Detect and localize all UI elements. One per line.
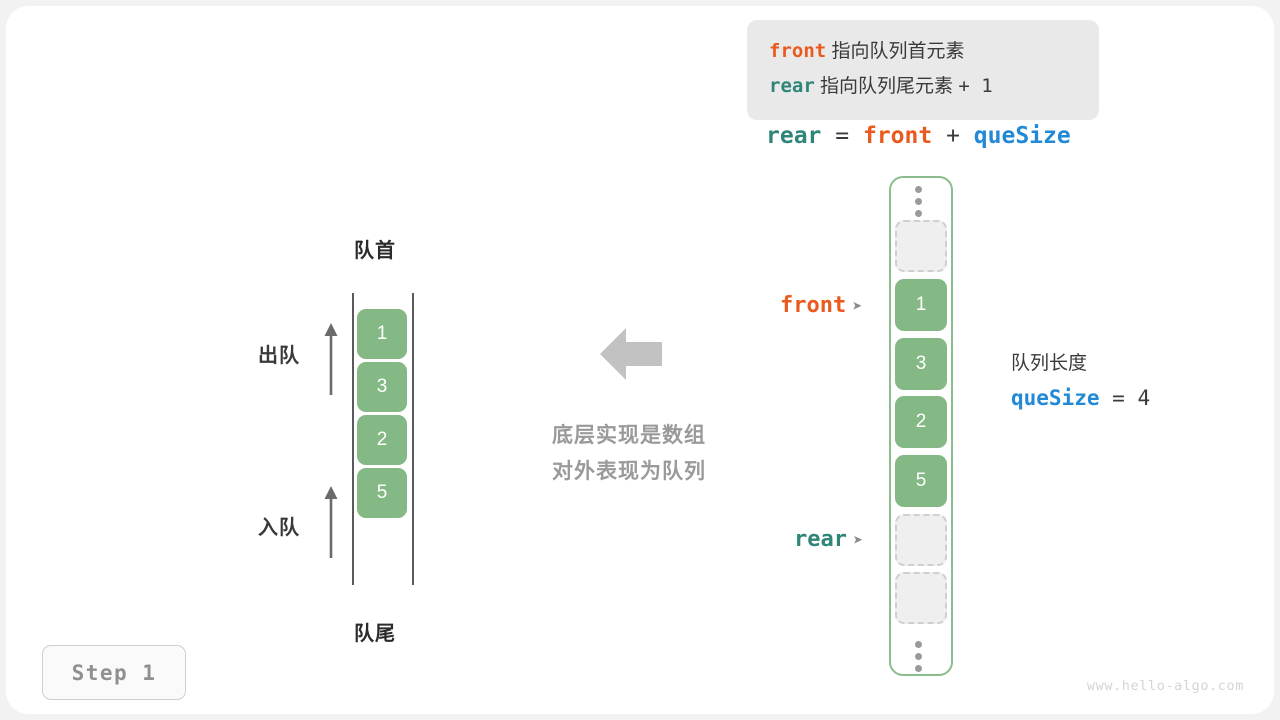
array-cell-filled: 5 bbox=[895, 455, 947, 507]
queue-size-expression: queSize = 4 bbox=[1011, 381, 1150, 415]
pointer-definition-note: front 指向队列首元素 rear 指向队列尾元素 + 1 bbox=[747, 20, 1099, 120]
formula-quesize: queSize bbox=[974, 123, 1071, 149]
formula-plus: + bbox=[946, 123, 960, 149]
queue-item: 1 bbox=[357, 309, 407, 359]
dequeue-label: 出队 bbox=[258, 339, 300, 368]
queue-head-label: 队首 bbox=[354, 234, 396, 263]
formula-equals: = bbox=[835, 123, 849, 149]
note-line-front: front 指向队列首元素 bbox=[769, 34, 1099, 69]
queue-item: 3 bbox=[357, 362, 407, 412]
queue-item: 2 bbox=[357, 415, 407, 465]
enqueue-arrow-icon bbox=[323, 486, 339, 558]
queue-size-title: 队列长度 bbox=[1011, 347, 1150, 381]
transform-caption: 底层实现是数组 对外表现为队列 bbox=[534, 418, 724, 490]
ellipsis-dot bbox=[915, 641, 922, 648]
diagram-canvas: front 指向队列首元素 rear 指向队列尾元素 + 1 rear = fr… bbox=[6, 6, 1274, 714]
front-description: 指向队列首元素 bbox=[831, 41, 964, 62]
left-arrow-icon bbox=[600, 326, 662, 382]
rear-pointer-marker-icon: ➤ bbox=[853, 531, 863, 551]
quesize-equals: = bbox=[1112, 386, 1125, 410]
vertical-ellipsis-icon-bottom bbox=[915, 641, 923, 677]
quesize-value: 4 bbox=[1137, 386, 1150, 410]
queue-rail-left bbox=[352, 293, 354, 585]
rear-keyword: rear bbox=[769, 75, 815, 97]
front-pointer: front➤ bbox=[780, 293, 862, 318]
formula-front: front bbox=[863, 123, 932, 149]
array-cell-empty bbox=[895, 572, 947, 624]
ellipsis-dot bbox=[915, 653, 922, 660]
rear-pointer-label: rear bbox=[794, 527, 847, 552]
queue-item: 5 bbox=[357, 468, 407, 518]
vertical-ellipsis-icon-top bbox=[915, 186, 923, 222]
array-cell-empty bbox=[895, 514, 947, 566]
ellipsis-dot bbox=[915, 665, 922, 672]
queue-tail-label: 队尾 bbox=[354, 617, 396, 646]
array-cell-filled: 1 bbox=[895, 279, 947, 331]
transform-caption-line2: 对外表现为队列 bbox=[534, 454, 724, 490]
front-keyword: front bbox=[769, 40, 826, 62]
rear-formula: rear = front + queSize bbox=[766, 123, 1071, 149]
queue-rail-right bbox=[412, 293, 414, 585]
front-pointer-label: front bbox=[780, 293, 846, 318]
formula-rear: rear bbox=[766, 123, 821, 149]
enqueue-label: 入队 bbox=[258, 511, 300, 540]
rear-pointer: rear➤ bbox=[794, 527, 863, 552]
watermark: www.hello-algo.com bbox=[1087, 678, 1244, 694]
ellipsis-dot bbox=[915, 186, 922, 193]
queue-size-note: 队列长度 queSize = 4 bbox=[1011, 347, 1150, 415]
array-cell-filled: 3 bbox=[895, 338, 947, 390]
step-badge: Step 1 bbox=[42, 645, 186, 700]
array-cell-empty bbox=[895, 220, 947, 272]
note-line-rear: rear 指向队列尾元素 + 1 bbox=[769, 69, 1099, 104]
dequeue-arrow-icon bbox=[323, 323, 339, 395]
rear-description: 指向队列尾元素 bbox=[820, 76, 953, 97]
quesize-keyword: queSize bbox=[1011, 386, 1100, 410]
ellipsis-dot bbox=[915, 198, 922, 205]
rear-description-suffix: + 1 bbox=[958, 75, 992, 97]
array-cell-filled: 2 bbox=[895, 396, 947, 448]
front-pointer-marker-icon: ➤ bbox=[852, 297, 862, 317]
ellipsis-dot bbox=[915, 210, 922, 217]
transform-caption-line1: 底层实现是数组 bbox=[534, 418, 724, 454]
